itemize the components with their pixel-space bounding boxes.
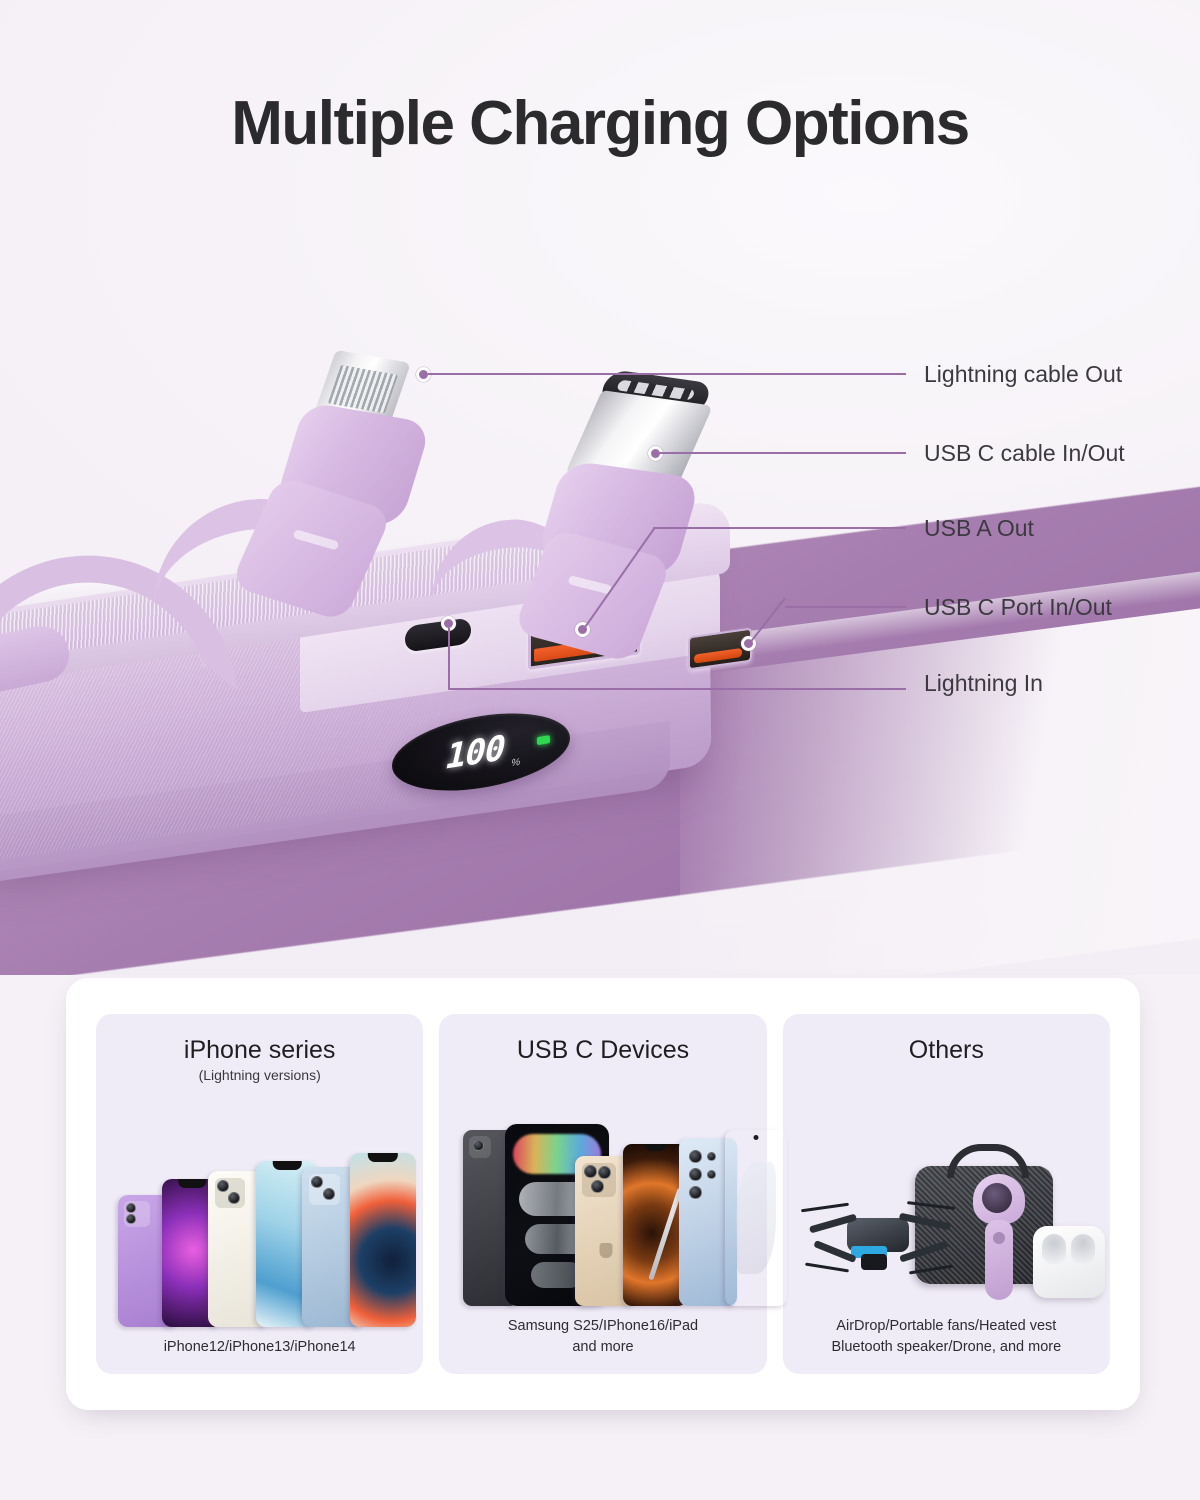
card-title-usb-c-devices: USB C Devices	[517, 1036, 689, 1065]
fan-blades	[982, 1183, 1012, 1213]
card-title-others: Others	[909, 1036, 984, 1065]
callout-label-usb-a-out: USB A Out	[924, 515, 1034, 542]
battery-percent-value: 100	[441, 728, 509, 779]
dynamic-island	[646, 1144, 665, 1151]
airpods-case	[1033, 1226, 1105, 1298]
card-caption-line-1: AirDrop/Portable fans/Heated vest	[831, 1316, 1061, 1337]
fan-power-button	[993, 1232, 1005, 1244]
stylus-pen	[648, 1188, 682, 1281]
card-title-iphone-series: iPhone series	[184, 1036, 335, 1065]
camera-lens	[584, 1165, 597, 1178]
drone-propeller	[805, 1263, 849, 1273]
camera-module	[215, 1178, 245, 1208]
card-art-iphone-series	[110, 1089, 409, 1333]
card-art-others	[797, 1071, 1096, 1312]
callout-label-usb-c-port-in-out: USB C Port In/Out	[924, 594, 1112, 621]
portable-fan	[973, 1174, 1025, 1302]
hero-scene: Multiple Charging Options 100 %	[0, 0, 1200, 975]
camera-lens	[473, 1140, 484, 1151]
speaker-handle	[947, 1144, 1029, 1178]
iphone-14-front	[350, 1153, 416, 1327]
camera-lens	[311, 1176, 323, 1188]
card-subtitle-iphone-series: (Lightning versions)	[199, 1067, 321, 1083]
airpod-right	[1071, 1234, 1095, 1264]
card-caption-line-1: Samsung S25/IPhone16/iPad	[508, 1316, 698, 1337]
callout-line-usb-c-cable-in-out	[660, 452, 906, 454]
drone-propeller	[801, 1203, 849, 1213]
charge-indicator-led	[537, 735, 550, 745]
card-caption-iphone-series: iPhone12/iPhone13/iPhone14	[164, 1337, 356, 1358]
camera-lens	[228, 1192, 240, 1204]
card-art-usb-c-devices	[453, 1071, 752, 1312]
camera-lens	[598, 1166, 611, 1179]
camera-lens	[323, 1188, 335, 1200]
camera-module	[582, 1163, 616, 1197]
camera-lens	[689, 1186, 702, 1199]
compatibility-card-usb-c-devices: USB C Devices	[439, 1014, 766, 1374]
camera-module	[469, 1136, 491, 1158]
callout-line-usb-a-out	[653, 527, 906, 529]
camera-lens	[126, 1214, 136, 1224]
iphone-16-screen	[623, 1144, 687, 1306]
card-caption-usb-c-devices: Samsung S25/IPhone16/iPad and more	[508, 1316, 698, 1358]
camera-module	[124, 1201, 150, 1227]
callout-line-lightning-cable-out	[428, 373, 906, 375]
compatibility-card-others: Others	[783, 1014, 1110, 1374]
callout-line-usb-c-port-in-out	[785, 606, 906, 608]
camera-lens	[689, 1168, 702, 1181]
card-caption-others: AirDrop/Portable fans/Heated vest Blueto…	[831, 1316, 1061, 1358]
page-title: Multiple Charging Options	[0, 88, 1200, 159]
card-caption-line-2: and more	[508, 1337, 698, 1358]
camera-lens	[707, 1152, 716, 1161]
camera-lens	[689, 1150, 702, 1163]
callout-line-lightning-in	[448, 688, 906, 690]
galaxy-s25-ultra-screen	[725, 1130, 787, 1306]
compatibility-card-iphone-series: iPhone series (Lightning versions)	[96, 1014, 423, 1374]
drone	[803, 1192, 955, 1288]
galaxy-s-wallpaper	[736, 1162, 776, 1275]
callout-label-lightning-cable-out: Lightning cable Out	[924, 361, 1122, 388]
callout-drop-lightning-in	[448, 628, 450, 689]
camera-lens	[217, 1180, 229, 1192]
drone-propeller	[909, 1265, 953, 1275]
display-notch	[368, 1153, 398, 1162]
camera-module	[309, 1174, 340, 1205]
battery-percent-unit: %	[510, 757, 521, 770]
display-notch	[178, 1179, 206, 1188]
camera-lens	[126, 1203, 136, 1213]
camera-lens	[591, 1180, 604, 1193]
callout-label-usb-c-cable-in-out: USB C cable In/Out	[924, 440, 1125, 467]
drone-propeller	[907, 1201, 955, 1210]
card-caption-line-2: Bluetooth speaker/Drone, and more	[831, 1337, 1061, 1358]
display-notch	[273, 1161, 302, 1170]
punch-hole-camera	[754, 1135, 759, 1140]
apple-logo	[600, 1243, 613, 1258]
airpod-left	[1042, 1234, 1066, 1264]
camera-lens	[707, 1170, 716, 1179]
compatibility-panel: iPhone series (Lightning versions)	[66, 978, 1140, 1410]
callout-label-lightning-in: Lightning In	[924, 670, 1043, 697]
drone-camera-gimbal	[861, 1254, 887, 1270]
